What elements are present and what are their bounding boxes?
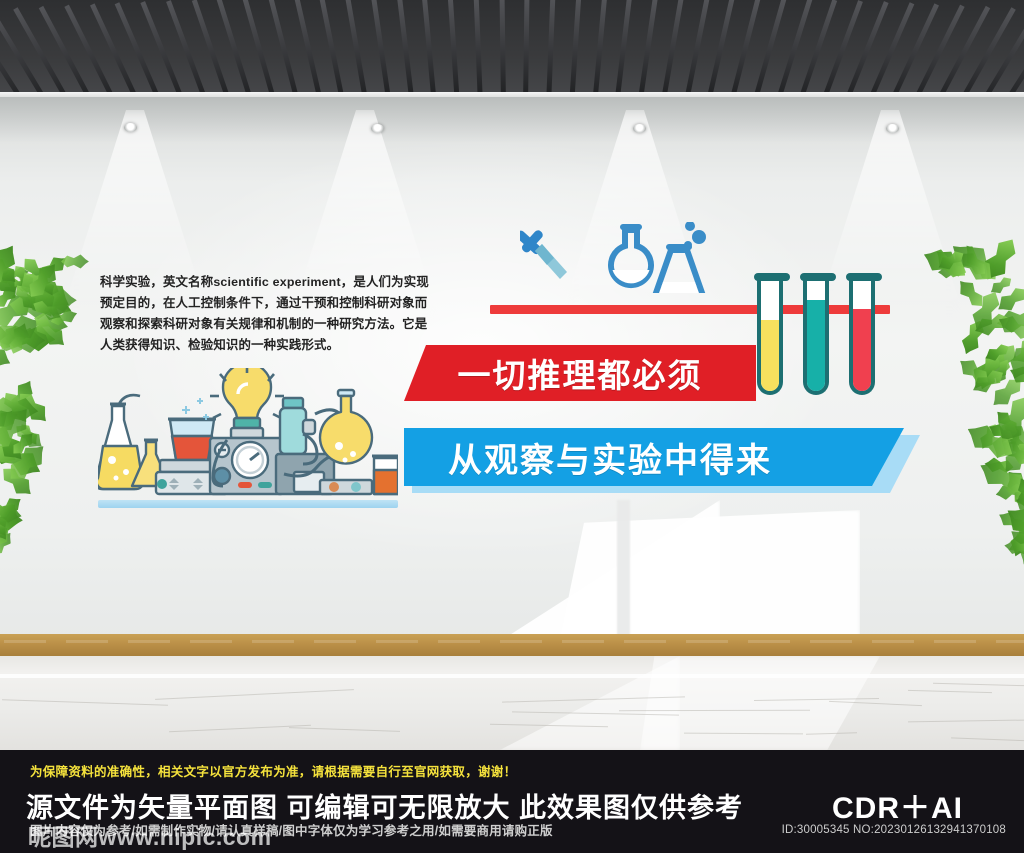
science-icon-group bbox=[520, 222, 720, 300]
ceiling-slat bbox=[546, 0, 555, 97]
ceiling-slat bbox=[396, 0, 414, 97]
round-flask-icon bbox=[611, 224, 651, 285]
baseboard-groove bbox=[314, 640, 356, 643]
tube-fill bbox=[853, 309, 871, 391]
test-tube-red bbox=[849, 277, 875, 395]
baseboard-groove bbox=[624, 640, 666, 643]
ceiling-slat bbox=[637, 0, 658, 97]
science-icons-svg bbox=[520, 222, 720, 300]
baseboard-groove bbox=[562, 640, 604, 643]
baseboard-groove bbox=[128, 640, 170, 643]
floor-sheen bbox=[0, 674, 1024, 678]
ceiling-slat bbox=[140, 1, 186, 97]
floor-vein bbox=[908, 719, 1024, 723]
floor-vein bbox=[156, 689, 355, 700]
wall-top-shading bbox=[0, 97, 1024, 143]
lab-illustration-baseline bbox=[98, 500, 398, 508]
sparkle-icon bbox=[182, 398, 209, 420]
dropper-icon bbox=[520, 229, 567, 279]
wall-baseboard bbox=[0, 634, 1024, 656]
test-tube-group bbox=[757, 277, 887, 399]
floor-vein bbox=[933, 683, 1024, 688]
ceiling-slat bbox=[523, 0, 529, 97]
baseboard-groove bbox=[996, 640, 1024, 643]
ceiling-slat bbox=[592, 0, 607, 97]
tube-lip bbox=[754, 273, 790, 281]
poster-mockup-scene: 科学实验，英文名称scientific experiment，是人们为实现预定目… bbox=[0, 0, 1024, 853]
ceiling-slat bbox=[473, 0, 482, 97]
baseboard-groove bbox=[190, 640, 232, 643]
ceiling-spotlight bbox=[124, 123, 137, 132]
slogan-banner-blue: 从观察与实验中得来 bbox=[404, 428, 904, 486]
baseboard-groove bbox=[500, 640, 542, 643]
window-mullion-shadow bbox=[617, 500, 630, 638]
baseboard-groove bbox=[872, 640, 914, 643]
footer-warning-text: 为保障资料的准确性，相关文字以官方发布为准，请根据需要自行至官网获取，谢谢！ bbox=[30, 761, 516, 780]
ceiling-slat bbox=[888, 3, 940, 97]
baseboard-groove bbox=[438, 640, 480, 643]
ceiling-slat bbox=[569, 0, 581, 97]
ceiling-slat bbox=[499, 0, 505, 97]
ceiling-spotlight bbox=[371, 124, 384, 133]
erlenmeyer-flask-icon bbox=[657, 244, 701, 293]
baseboard-groove bbox=[376, 640, 418, 643]
floor-vein bbox=[619, 710, 810, 711]
ceiling-slat bbox=[345, 0, 369, 97]
ceiling-slat bbox=[115, 2, 164, 97]
slogan-line-1: 一切推理都必须 bbox=[458, 349, 703, 397]
ceiling-slat bbox=[90, 3, 142, 97]
test-tube-teal bbox=[803, 277, 829, 395]
ceiling-slat bbox=[614, 0, 632, 97]
test-tube-yellow bbox=[757, 277, 783, 395]
floor-vein bbox=[908, 689, 992, 692]
baseboard-groove bbox=[810, 640, 852, 643]
baseboard-groove bbox=[748, 640, 790, 643]
slogan-line-2: 从观察与实验中得来 bbox=[448, 433, 772, 482]
floor-vein bbox=[951, 737, 1024, 745]
ceiling-slat bbox=[371, 0, 392, 97]
ceiling-slat bbox=[910, 5, 964, 97]
baseboard-groove bbox=[934, 640, 976, 643]
floor-vein bbox=[289, 727, 400, 732]
plant-right bbox=[952, 250, 1024, 550]
footer-format-badge: CDR＋AI bbox=[832, 783, 963, 827]
ceiling-slat bbox=[728, 0, 761, 97]
site-watermark: 昵图网www.nipic.com bbox=[28, 818, 272, 852]
ceiling-slat bbox=[683, 0, 710, 97]
baseboard-groove bbox=[66, 640, 108, 643]
footer-id-line: ID:30005345 NO:20230126132941370108 bbox=[782, 824, 1006, 836]
lab-apparatus-illustration bbox=[98, 368, 398, 513]
ceiling-spotlight bbox=[633, 124, 646, 133]
ceiling-slat bbox=[448, 0, 460, 97]
lab-apparatus-svg bbox=[98, 368, 398, 513]
plant-left bbox=[0, 252, 76, 542]
slogan-banner-red: 一切推理都必须 bbox=[404, 345, 756, 401]
beaker-orange bbox=[372, 456, 398, 494]
bubble-icon bbox=[684, 222, 706, 249]
tube-lip bbox=[800, 273, 836, 281]
ceiling bbox=[0, 0, 1024, 97]
ceiling-spotlight bbox=[886, 124, 899, 133]
ceiling-slat bbox=[319, 0, 346, 97]
floor-light-reflection bbox=[640, 656, 880, 750]
ceiling-slat bbox=[842, 1, 888, 97]
description-paragraph: 科学实验，英文名称scientific experiment，是人们为实现预定目… bbox=[100, 272, 430, 356]
lightbulb-icon bbox=[210, 368, 284, 438]
floor-vein bbox=[2, 699, 168, 706]
ceiling-slat bbox=[294, 0, 324, 97]
ceiling-slat bbox=[660, 0, 684, 97]
ceiling-slat bbox=[705, 0, 735, 97]
tube-lip bbox=[846, 273, 882, 281]
tube-fill bbox=[807, 300, 825, 391]
baseboard-groove bbox=[252, 640, 294, 643]
tube-fill bbox=[761, 320, 779, 391]
marble-floor bbox=[0, 656, 1024, 750]
ceiling-slat bbox=[268, 0, 301, 97]
window-light-patch bbox=[560, 510, 860, 638]
ceiling-slat bbox=[865, 2, 914, 97]
baseboard-groove bbox=[4, 640, 46, 643]
ceiling-slat bbox=[422, 0, 437, 97]
baseboard-groove bbox=[686, 640, 728, 643]
